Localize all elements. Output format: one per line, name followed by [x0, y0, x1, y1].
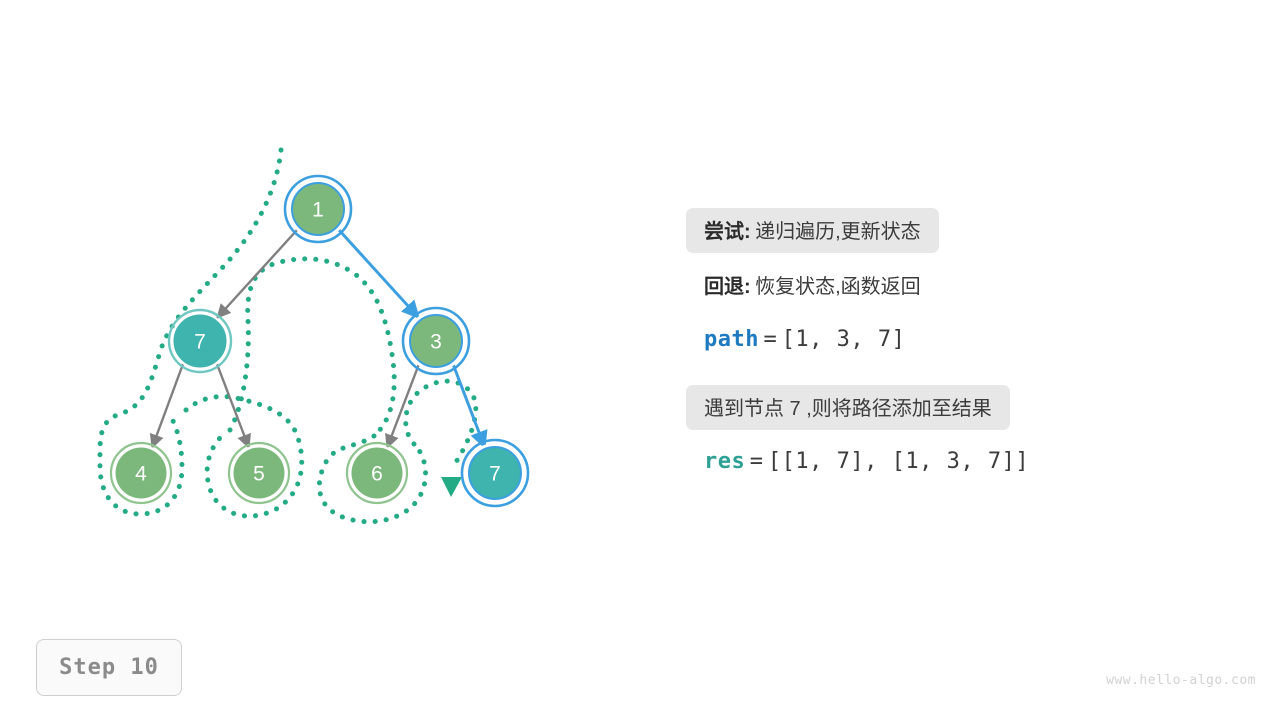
tree-node-6-label: 6	[371, 463, 383, 486]
backtrack-text: 恢复状态,函数返回	[755, 276, 921, 298]
res-equals: =	[750, 449, 764, 474]
tree-node-5-label: 5	[253, 463, 265, 486]
tree-node-3-label: 3	[430, 331, 442, 354]
edge-1-to-7	[217, 230, 297, 318]
found-text: 遇到节点 7 ,则将路径添加至结果	[704, 398, 992, 420]
res-box: res = [[1, 7], [1, 3, 7]]	[686, 442, 1047, 483]
tree-node-1-label: 1	[312, 199, 324, 222]
try-text: 递归遍历,更新状态	[755, 221, 921, 243]
found-row: 遇到节点 7 ,则将路径添加至结果	[686, 385, 1246, 430]
tree-node-7-right[interactable]: 7	[462, 440, 528, 506]
trail-middle-rise	[230, 259, 394, 436]
found-highlight-box: 遇到节点 7 ,则将路径添加至结果	[686, 385, 1010, 430]
trail-arrowhead-icon	[441, 477, 462, 497]
path-box: path = [1, 3, 7]	[686, 320, 923, 361]
backtrack-row: 回退: 恢复状态,函数返回	[686, 263, 1246, 308]
res-key: res	[704, 449, 745, 474]
screenshot-root: 1 7 3	[0, 0, 1280, 720]
tree-node-7-left-label: 7	[194, 331, 206, 354]
res-value: [[1, 7], [1, 3, 7]]	[768, 449, 1029, 474]
tree-node-3[interactable]: 3	[403, 308, 469, 374]
step-badge-label: Step 10	[59, 655, 159, 680]
tree-node-4[interactable]: 4	[111, 443, 171, 503]
watermark: www.hello-algo.com	[1106, 673, 1256, 688]
res-row: res = [[1, 7], [1, 3, 7]]	[686, 440, 1246, 485]
try-label: 尝试:	[704, 221, 751, 243]
tree-node-7-right-label: 7	[489, 463, 501, 486]
explanation-panel: 尝试: 递归遍历,更新状态 回退: 恢复状态,函数返回 path = [1, 3…	[686, 208, 1246, 493]
try-highlight-box: 尝试: 递归遍历,更新状态	[686, 208, 939, 253]
backtrack-box: 回退: 恢复状态,函数返回	[686, 263, 939, 308]
try-row: 尝试: 递归遍历,更新状态	[686, 208, 1246, 253]
path-equals: =	[763, 327, 777, 352]
backtrack-label: 回退:	[704, 276, 751, 298]
tree-node-6[interactable]: 6	[347, 443, 407, 503]
path-row: path = [1, 3, 7]	[686, 318, 1246, 363]
path-value: [1, 3, 7]	[782, 327, 906, 352]
tree-node-7-left[interactable]: 7	[169, 310, 231, 372]
step-badge: Step 10	[36, 639, 182, 696]
binary-tree-diagram: 1 7 3	[0, 0, 640, 620]
path-key: path	[704, 327, 759, 352]
tree-svg: 1 7 3	[0, 0, 640, 620]
tree-node-1[interactable]: 1	[285, 176, 351, 242]
tree-node-5[interactable]: 5	[229, 443, 289, 503]
tree-node-4-label: 4	[135, 463, 147, 486]
edge-7-to-4	[152, 364, 183, 448]
tree-nodes: 1 7 3	[111, 176, 528, 506]
edge-1-to-3	[339, 230, 419, 318]
edge-3-to-7	[453, 364, 485, 448]
